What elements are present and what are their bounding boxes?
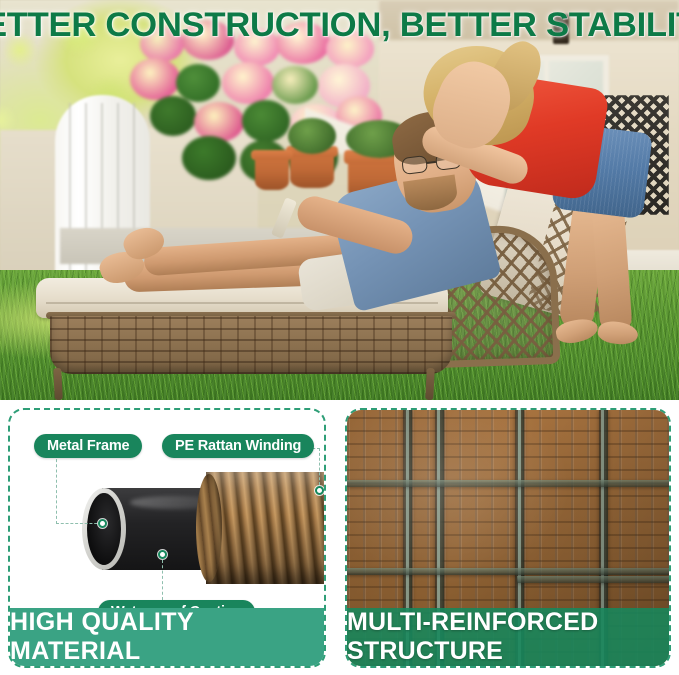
- chaise-leg-back: [425, 368, 435, 400]
- pipe-bore: [87, 493, 121, 565]
- pe-rattan-edge: [196, 474, 222, 582]
- panel-high-quality-material: Metal Frame PE Rattan Winding Waterproof…: [8, 408, 326, 668]
- marker-waterproof-coating: [158, 550, 167, 559]
- panel-left-footer-label: HIGH QUALITY MATERIAL: [10, 608, 324, 666]
- garden-wall-left: [0, 130, 60, 290]
- page-title: BETTER CONSTRUCTION, BETTER STABILITY: [0, 4, 679, 46]
- callout-line-waterproof-v: [162, 560, 163, 600]
- terracotta-pot-3: [255, 150, 289, 190]
- hero-photo: BETTER CONSTRUCTION, BETTER STABILITY: [0, 0, 679, 400]
- marker-pe-rattan: [315, 486, 324, 495]
- callout-line-metal-frame-v: [56, 454, 57, 524]
- chaise-leg-front: [53, 368, 63, 400]
- callout-pe-rattan-winding: PE Rattan Winding: [162, 434, 314, 458]
- marker-metal-frame: [98, 519, 107, 528]
- callout-line-pe-v: [319, 448, 320, 490]
- feature-panels: Metal Frame PE Rattan Winding Waterproof…: [0, 400, 679, 675]
- chaise-woven-frame: [50, 316, 452, 374]
- callout-metal-frame: Metal Frame: [34, 434, 142, 458]
- panel-right-footer-label: MULTI-REINFORCED STRUCTURE: [347, 608, 669, 666]
- pe-rattan-wrap: [206, 472, 326, 584]
- callout-line-metal-frame-h: [56, 523, 102, 524]
- potted-plant-1: [288, 118, 336, 154]
- panel-multi-reinforced-structure: MULTI-REINFORCED STRUCTURE: [345, 408, 671, 668]
